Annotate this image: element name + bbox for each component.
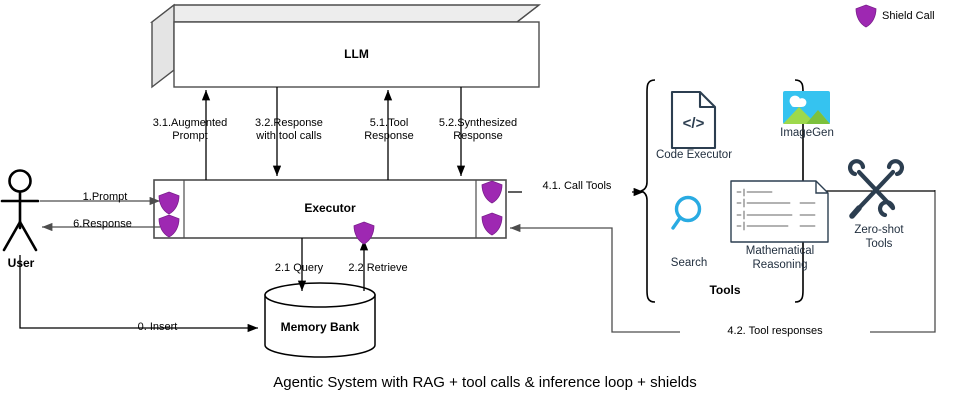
edge-label-0-insert: 0. Insert xyxy=(75,321,240,334)
executor-node-label: Executor xyxy=(184,201,476,215)
diagram-caption: Agentic System with RAG + tool calls & i… xyxy=(0,374,970,391)
image-icon[interactable] xyxy=(783,91,830,124)
edge-42-tool-responses xyxy=(510,190,935,332)
diagram-canvas: </> xyxy=(0,0,970,411)
tool-label-search: Search xyxy=(658,256,720,270)
user-actor[interactable] xyxy=(2,171,38,251)
tool-label-image-gen: ImageGen xyxy=(768,126,846,140)
edge-label-51-tool-response: 5.1.Tool Response xyxy=(343,117,435,143)
diagram-vector-layer: </> xyxy=(0,0,970,411)
user-actor-label: User xyxy=(0,256,42,270)
memory-bank-node-label: Memory Bank xyxy=(265,320,375,334)
magnifier-icon[interactable] xyxy=(673,198,700,229)
crossed-tools-icon[interactable] xyxy=(850,161,902,216)
llm-node[interactable] xyxy=(152,5,539,87)
llm-node-label: LLM xyxy=(174,47,539,61)
edge-label-21-query: 2.1 Query xyxy=(258,262,340,275)
legend-label: Shield Call xyxy=(882,10,935,22)
tool-label-code-executor: Code Executor xyxy=(648,148,740,162)
tools-group-label: Tools xyxy=(685,283,765,297)
edge-0-insert xyxy=(20,255,258,328)
edge-label-6-response: 6.Response xyxy=(50,218,155,231)
formula-document-icon[interactable] xyxy=(731,181,828,242)
edge-label-42-tool-responses: 4.2. Tool responses xyxy=(680,325,870,338)
svg-text:</>: </> xyxy=(683,115,705,132)
tool-label-mathematical-reasoning: Mathematical Reasoning xyxy=(732,244,828,272)
shield-icon-executor-memory xyxy=(354,222,374,244)
tool-label-zero-shot-tools: Zero-shot Tools xyxy=(843,223,915,251)
shield-icon-legend xyxy=(856,5,876,27)
edge-label-31-augmented-prompt: 3.1.Augmented Prompt xyxy=(140,117,240,143)
edge-label-52-synthesized-response: 5.2.Synthesized Response xyxy=(426,117,530,143)
edge-label-32-response-tool-calls: 3.2.Response with tool calls xyxy=(233,117,345,143)
edge-label-22-retrieve: 2.2 Retrieve xyxy=(331,262,425,275)
code-document-icon[interactable]: </> xyxy=(672,92,715,148)
edge-label-41-call-tools: 4.1. Call Tools xyxy=(522,180,632,193)
edge-label-1-prompt: 1.Prompt xyxy=(55,191,155,204)
